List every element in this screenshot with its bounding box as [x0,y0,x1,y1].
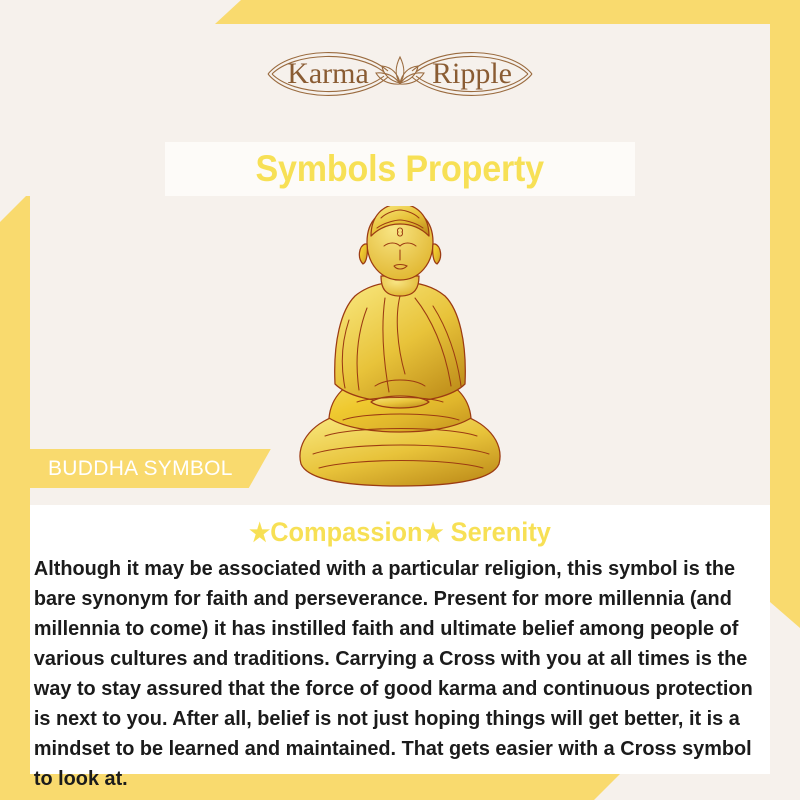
attributes-subtitle: ★Compassion★ Serenity [52,505,748,548]
star-icon-1: ★ [249,519,270,547]
poster-canvas: Karma Ripple Symbols Property [0,0,800,800]
description-paragraph: Although it may be associated with a par… [30,548,775,794]
frame-accent-left [0,196,30,800]
karma-ripple-logo-icon: Karma Ripple [250,41,550,107]
title-banner: Symbols Property [165,142,635,196]
attribute-compassion: Compassion [270,517,422,547]
logo-word-right: Ripple [432,57,512,90]
badge-buddha-symbol[interactable]: BUDDHA SYMBOL [20,449,271,488]
star-icon-2: ★ [423,519,444,547]
golden-seated-buddha-icon [285,206,515,496]
page-title: Symbols Property [256,148,544,190]
badge-label: BUDDHA SYMBOL [48,457,233,481]
content-panel: ★Compassion★ Serenity Although it may be… [30,505,770,774]
attribute-serenity: Serenity [451,517,551,547]
frame-accent-top [215,0,800,24]
logo-word-left: Karma [287,57,369,90]
brand-logo: Karma Ripple [0,38,800,110]
